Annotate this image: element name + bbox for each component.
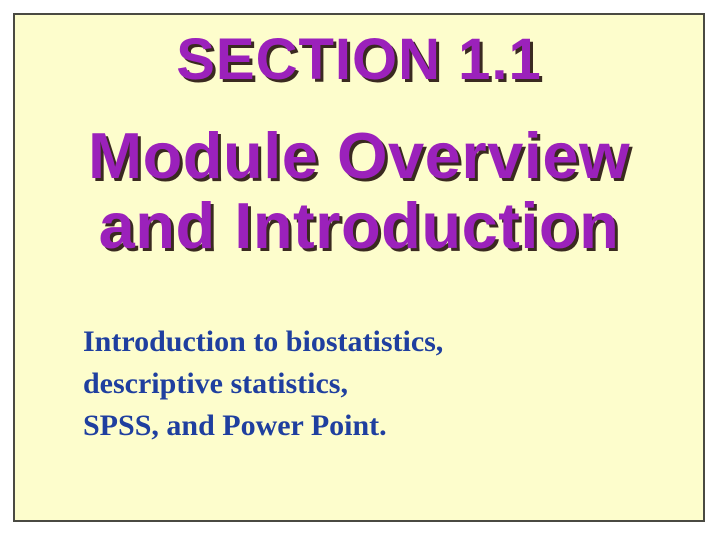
slide-panel: SECTION 1.1 Module Overview and Introduc… xyxy=(13,13,705,522)
slide-heading-line-1: Module Overview xyxy=(15,121,703,191)
slide-title-block: SECTION 1.1 Module Overview and Introduc… xyxy=(15,29,703,261)
slide-body-block: Introduction to biostatistics, descripti… xyxy=(83,321,683,447)
section-number-title: SECTION 1.1 xyxy=(15,29,703,91)
slide-canvas: SECTION 1.1 Module Overview and Introduc… xyxy=(0,0,720,540)
title-spacer xyxy=(15,91,703,121)
slide-heading-line-2: and Introduction xyxy=(15,191,703,261)
body-line: SPSS, and Power Point. xyxy=(83,405,683,447)
body-line: descriptive statistics, xyxy=(83,363,683,405)
body-line: Introduction to biostatistics, xyxy=(83,321,683,363)
